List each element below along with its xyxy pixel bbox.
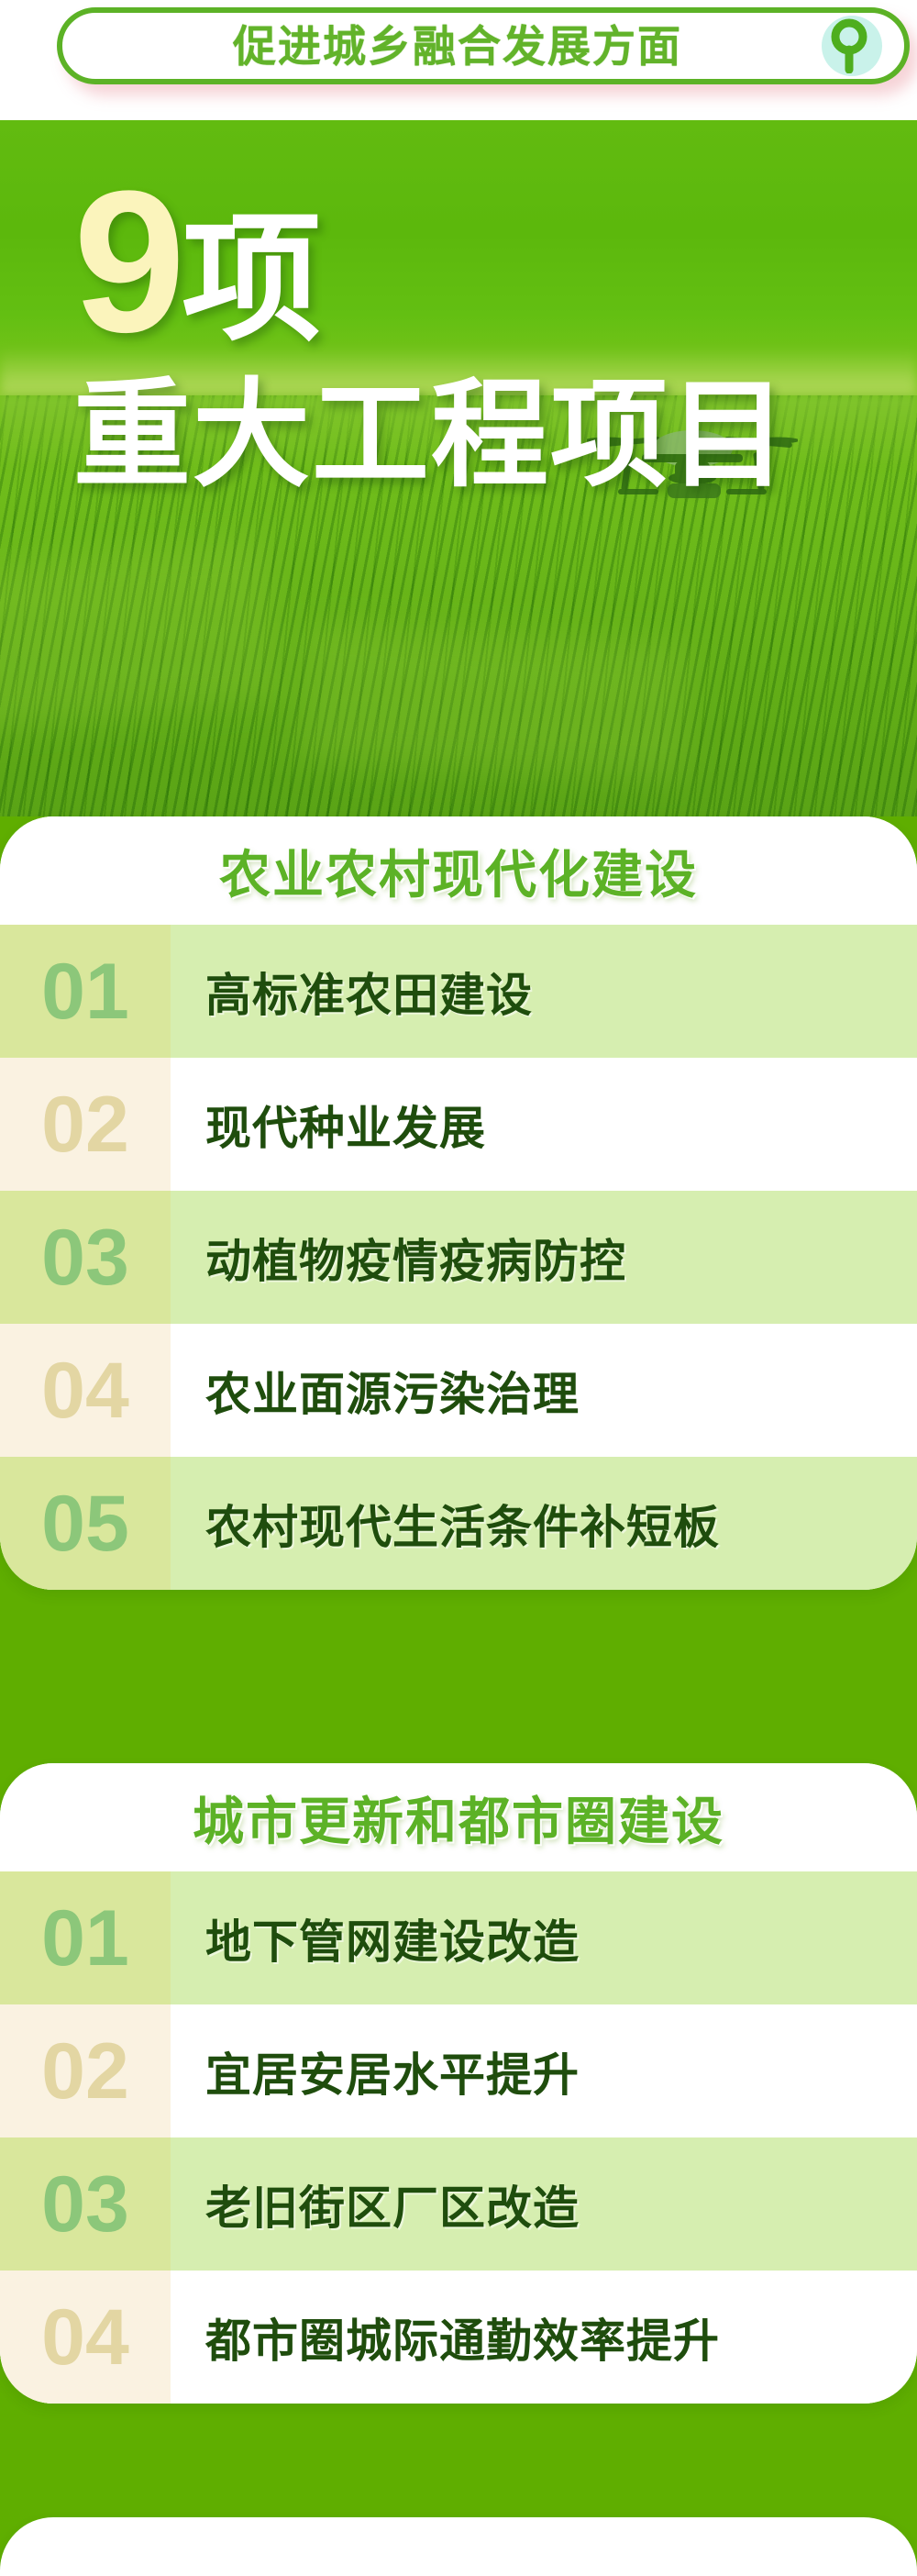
list-item-number: 04	[0, 1324, 171, 1457]
list-item-label: 动植物疫情疫病防控	[171, 1191, 917, 1324]
list-item-label: 现代种业发展	[171, 1058, 917, 1191]
list-item[interactable]: 03 老旧街区厂区改造	[0, 2137, 917, 2271]
banner-pill[interactable]: 促进城乡融合发展方面	[57, 7, 910, 84]
section-header: 农业农村现代化建设	[0, 816, 917, 925]
list-item-label: 高标准农田建设	[171, 925, 917, 1058]
list-item[interactable]: 04 农业面源污染治理	[0, 1324, 917, 1457]
hero-title-block: 9 项 重大工程项目	[73, 173, 789, 494]
list-item-label: 农村现代生活条件补短板	[171, 1457, 917, 1590]
section-card-next-partial	[0, 2517, 917, 2576]
list-item-number: 01	[0, 925, 171, 1058]
hero-title-line-1: 9 项	[73, 173, 789, 351]
list-item-number: 05	[0, 1457, 171, 1590]
list-item-number: 04	[0, 2271, 171, 2404]
list-item-label: 宜居安居水平提升	[171, 2004, 917, 2137]
banner-title: 促进城乡融合发展方面	[62, 25, 811, 68]
hero-number: 9	[73, 173, 180, 351]
search-icon[interactable]	[811, 6, 889, 85]
hero-section: 9 项 重大工程项目	[0, 120, 917, 816]
list-item[interactable]: 02 宜居安居水平提升	[0, 2004, 917, 2137]
search-icon-glyph	[825, 18, 875, 73]
list-item-label: 老旧街区厂区改造	[171, 2137, 917, 2271]
list-item[interactable]: 03 动植物疫情疫病防控	[0, 1191, 917, 1324]
section-title: 城市更新和都市圈建设	[193, 1781, 724, 1855]
section-card-agriculture: 农业农村现代化建设 01 高标准农田建设 02 现代种业发展 03 动植物疫情疫…	[0, 816, 917, 1590]
hero-field-patch	[0, 536, 282, 733]
hero-subtitle: 重大工程项目	[73, 377, 789, 494]
list-item[interactable]: 04 都市圈城际通勤效率提升	[0, 2271, 917, 2404]
list-item[interactable]: 01 高标准农田建设	[0, 925, 917, 1058]
section-header: 城市更新和都市圈建设	[0, 1763, 917, 1871]
hero-unit: 项	[182, 219, 321, 342]
list-item-number: 03	[0, 2137, 171, 2271]
infographic-page: 促进城乡融合发展方面	[0, 0, 917, 2576]
list-item[interactable]: 05 农村现代生活条件补短板	[0, 1457, 917, 1590]
list-item-label: 地下管网建设改造	[171, 1871, 917, 2004]
list-item[interactable]: 02 现代种业发展	[0, 1058, 917, 1191]
list-item-number: 01	[0, 1871, 171, 2004]
section-title: 农业农村现代化建设	[219, 834, 698, 908]
list-item-number: 02	[0, 2004, 171, 2137]
list-item-label: 都市圈城际通勤效率提升	[171, 2271, 917, 2404]
list-item-number: 02	[0, 1058, 171, 1191]
section-card-urban: 城市更新和都市圈建设 01 地下管网建设改造 02 宜居安居水平提升 03 老旧…	[0, 1763, 917, 2404]
hero-field-patch	[299, 624, 691, 782]
list-item[interactable]: 01 地下管网建设改造	[0, 1871, 917, 2004]
list-item-number: 03	[0, 1191, 171, 1324]
list-item-label: 农业面源污染治理	[171, 1324, 917, 1457]
